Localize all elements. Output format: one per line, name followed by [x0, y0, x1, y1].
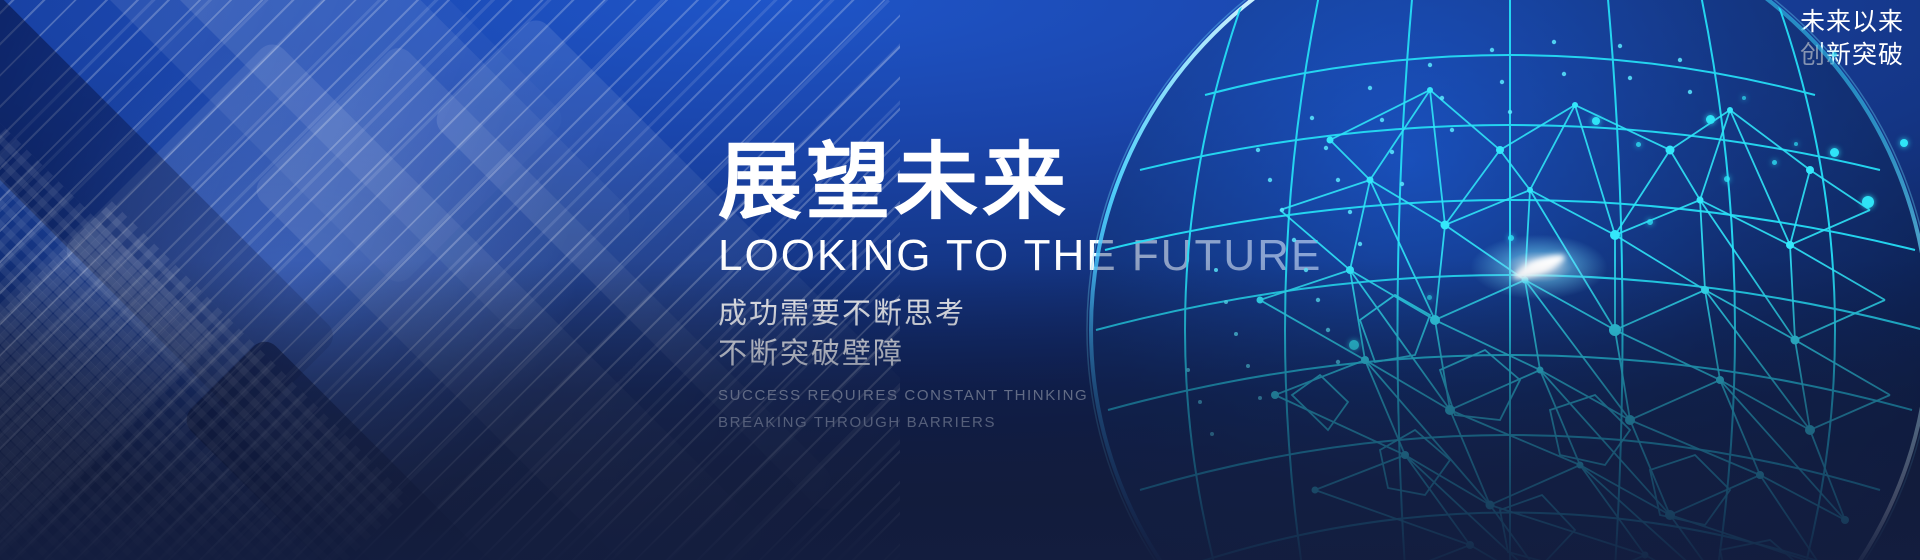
particle-dot: [1832, 52, 1837, 57]
particle-dot: [1772, 160, 1777, 165]
particle-dot: [1508, 235, 1514, 241]
particle-dot: [1862, 196, 1874, 208]
particle-dot: [1830, 148, 1839, 157]
particle-dot: [1592, 117, 1600, 125]
promo-banner: 展望未来 LOOKING TO THE FUTURE 成功需要不断思考 不断突破…: [0, 0, 1920, 560]
particle-dot: [1900, 139, 1908, 147]
particle-dot: [1349, 340, 1359, 350]
particle-dot: [1706, 115, 1715, 124]
particle-dot: [1794, 142, 1798, 146]
particle-dot: [1636, 142, 1641, 147]
particle-dot: [1647, 219, 1653, 225]
particle-dot: [1742, 96, 1746, 100]
wireframe-globe-icon: [1030, 0, 1920, 560]
particle-dot: [1427, 295, 1432, 300]
particle-dot: [1724, 176, 1730, 182]
